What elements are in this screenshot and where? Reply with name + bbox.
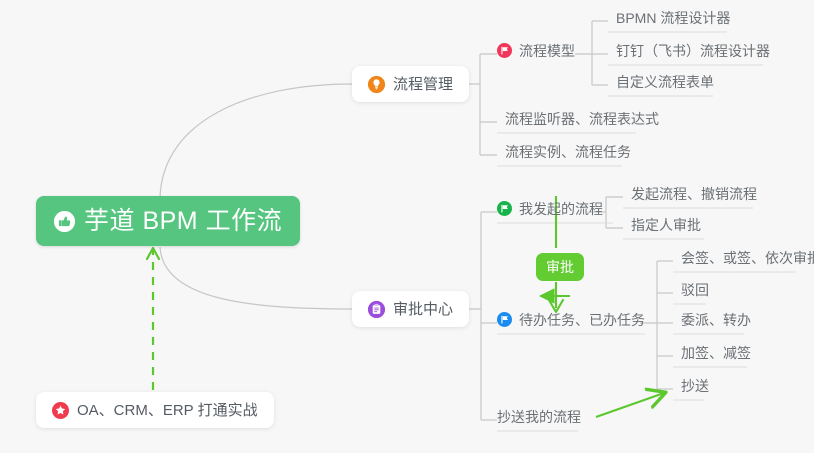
flag-icon-red — [497, 43, 512, 58]
node-process-model[interactable]: 流程模型 — [489, 43, 583, 63]
node-cc[interactable]: 抄送 — [673, 379, 717, 398]
label-cc-to-me: 抄送我的流程 — [497, 410, 581, 424]
label-process-model: 流程模型 — [519, 44, 575, 58]
node-dingtalk-feishu-designer[interactable]: 钉钉（飞书）流程设计器 — [608, 44, 778, 63]
node-add-remove-sign[interactable]: 加签、减签 — [673, 346, 759, 365]
node-bpmn-designer[interactable]: BPMN 流程设计器 — [608, 11, 738, 30]
label-add-remove-sign: 加签、减签 — [681, 346, 751, 360]
node-listener-expression[interactable]: 流程监听器、流程表达式 — [497, 112, 667, 131]
clipboard-icon — [368, 301, 385, 318]
thumbs-up-icon — [54, 211, 75, 232]
node-assignee-approval[interactable]: 指定人审批 — [623, 218, 709, 237]
highlight-chip-label: 审批 — [546, 260, 574, 274]
node-my-initiated[interactable]: 我发起的流程 — [489, 201, 611, 221]
node-custom-process-form[interactable]: 自定义流程表单 — [608, 75, 722, 94]
node-cc-to-me[interactable]: 抄送我的流程 — [489, 410, 589, 429]
label-instance-task: 流程实例、流程任务 — [505, 145, 631, 159]
label-todo-done-tasks: 待办任务、已办任务 — [519, 313, 645, 327]
callout-node[interactable]: OA、CRM、ERP 打通实战 — [36, 392, 274, 428]
root-label: 芋道 BPM 工作流 — [84, 209, 282, 234]
label-my-initiated: 我发起的流程 — [519, 202, 603, 216]
callout-label: OA、CRM、ERP 打通实战 — [77, 403, 258, 418]
annotation-arrow-cc — [596, 393, 664, 417]
node-instance-task[interactable]: 流程实例、流程任务 — [497, 145, 639, 164]
label-dingtalk-feishu-designer: 钉钉（飞书）流程设计器 — [616, 44, 770, 58]
branch-node-approval-center[interactable]: 审批中心 — [352, 291, 469, 327]
label-bpmn-designer: BPMN 流程设计器 — [616, 11, 730, 25]
node-reject[interactable]: 驳回 — [673, 283, 717, 302]
star-icon — [52, 402, 69, 419]
flag-icon-green — [497, 201, 512, 216]
flag-icon-blue — [497, 312, 512, 327]
branch-label-process-management: 流程管理 — [393, 77, 453, 92]
label-custom-process-form: 自定义流程表单 — [616, 75, 714, 89]
label-start-cancel: 发起流程、撤销流程 — [631, 187, 757, 201]
node-delegate-transfer[interactable]: 委派、转办 — [673, 313, 759, 332]
node-countersign[interactable]: 会签、或签、依次审批 — [673, 251, 814, 270]
label-assignee-approval: 指定人审批 — [631, 218, 701, 232]
label-delegate-transfer: 委派、转办 — [681, 313, 751, 327]
label-cc: 抄送 — [681, 379, 709, 393]
label-listener-expression: 流程监听器、流程表达式 — [505, 112, 659, 126]
node-todo-done-tasks[interactable]: 待办任务、已办任务 — [489, 312, 653, 332]
label-reject: 驳回 — [681, 283, 709, 297]
lightbulb-icon — [368, 76, 385, 93]
root-node[interactable]: 芋道 BPM 工作流 — [36, 196, 300, 246]
label-countersign: 会签、或签、依次审批 — [681, 251, 814, 265]
branch-node-process-management[interactable]: 流程管理 — [352, 66, 469, 102]
node-start-cancel[interactable]: 发起流程、撤销流程 — [623, 187, 765, 206]
mindmap-canvas: 芋道 BPM 工作流 流程管理 流程模型 BPMN 流程设计器 钉钉（飞书 — [0, 0, 814, 453]
highlight-chip-approval: 审批 — [536, 253, 584, 281]
branch-label-approval-center: 审批中心 — [393, 302, 453, 317]
